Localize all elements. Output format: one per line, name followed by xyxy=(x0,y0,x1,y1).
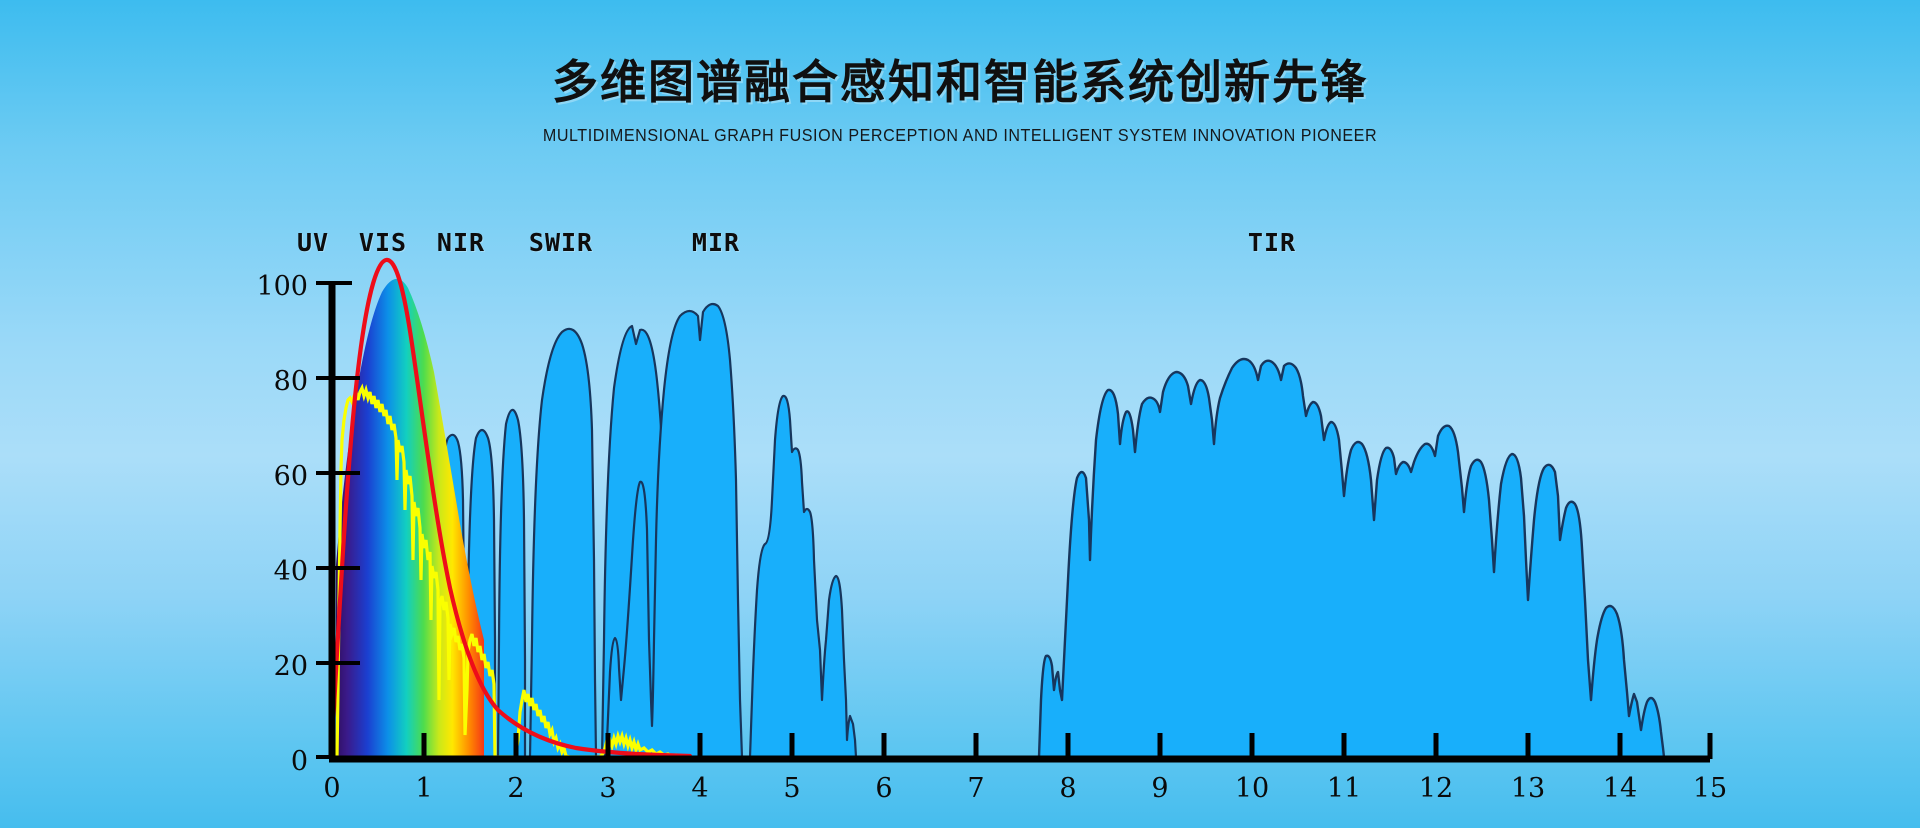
y-tick-80: 80 xyxy=(274,366,308,397)
x-tick-14: 14 xyxy=(1603,773,1637,804)
x-tick-4: 4 xyxy=(691,773,708,804)
x-tick-13: 13 xyxy=(1511,773,1545,804)
transmission-window-mir-right xyxy=(750,396,856,757)
x-tick-3: 3 xyxy=(599,773,616,804)
x-tick-10: 10 xyxy=(1235,773,1269,804)
y-tick-20: 20 xyxy=(274,651,308,682)
x-tick-11: 11 xyxy=(1327,773,1361,804)
x-tick-5: 5 xyxy=(783,773,800,804)
x-tick-7: 7 xyxy=(967,773,984,804)
y-tick-100: 100 xyxy=(256,271,308,302)
y-tick-60: 60 xyxy=(274,461,308,492)
y-tick-labels: 100 80 60 40 20 0 xyxy=(256,271,308,777)
x-tick-labels: 0 1 2 3 4 5 6 7 8 9 10 11 12 13 14 15 xyxy=(323,773,1727,804)
transmission-window-swir-1 xyxy=(530,329,596,757)
x-tick-12: 12 xyxy=(1419,773,1453,804)
x-tick-15: 15 xyxy=(1693,773,1727,804)
x-tick-2: 2 xyxy=(507,773,524,804)
x-tick-8: 8 xyxy=(1059,773,1076,804)
y-tick-40: 40 xyxy=(274,556,308,587)
x-tick-1: 1 xyxy=(415,773,432,804)
x-tick-0: 0 xyxy=(323,773,340,804)
spectrum-chart: 100 80 60 40 20 0 0 1 2 3 4 5 6 7 8 9 10… xyxy=(0,0,1920,828)
poster-canvas: 多维图谱融合感知和智能系统创新先锋 MULTIDIMENSIONAL GRAPH… xyxy=(0,0,1920,828)
x-tick-6: 6 xyxy=(875,773,892,804)
x-tick-9: 9 xyxy=(1151,773,1168,804)
y-tick-0: 0 xyxy=(291,746,308,777)
transmission-window-tir xyxy=(1039,359,1664,757)
